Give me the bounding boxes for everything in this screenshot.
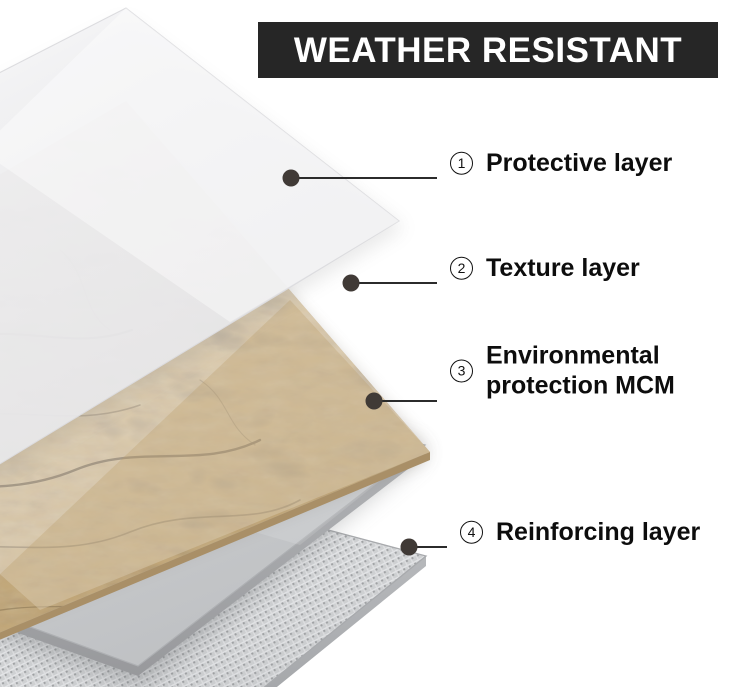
- callout-label-environmental-protection-mcm: Environmental protection MCM: [486, 340, 726, 401]
- callout-number-1: 1: [450, 151, 473, 174]
- callout-label-reinforcing-layer: Reinforcing layer: [496, 517, 700, 548]
- callout-label-protective-layer: Protective layer: [486, 148, 672, 179]
- callout-label-line-1: Environmental: [486, 341, 660, 369]
- leader-dot-4: [401, 539, 418, 556]
- leader-dot-3: [366, 393, 383, 410]
- callout-label-texture-layer: Texture layer: [486, 253, 640, 284]
- callout-number-4: 4: [460, 520, 483, 543]
- callout-number-2: 2: [450, 256, 473, 279]
- callout-label-line-2: protection MCM: [486, 372, 675, 400]
- leader-dot-1: [283, 170, 300, 187]
- title-banner: WEATHER RESISTANT: [258, 22, 718, 78]
- callout-number-3: 3: [450, 359, 473, 382]
- diagram-canvas: WEATHER RESISTANT 1 Protective layer 2 T…: [0, 0, 750, 687]
- leader-dot-2: [343, 275, 360, 292]
- title-text: WEATHER RESISTANT: [294, 33, 682, 68]
